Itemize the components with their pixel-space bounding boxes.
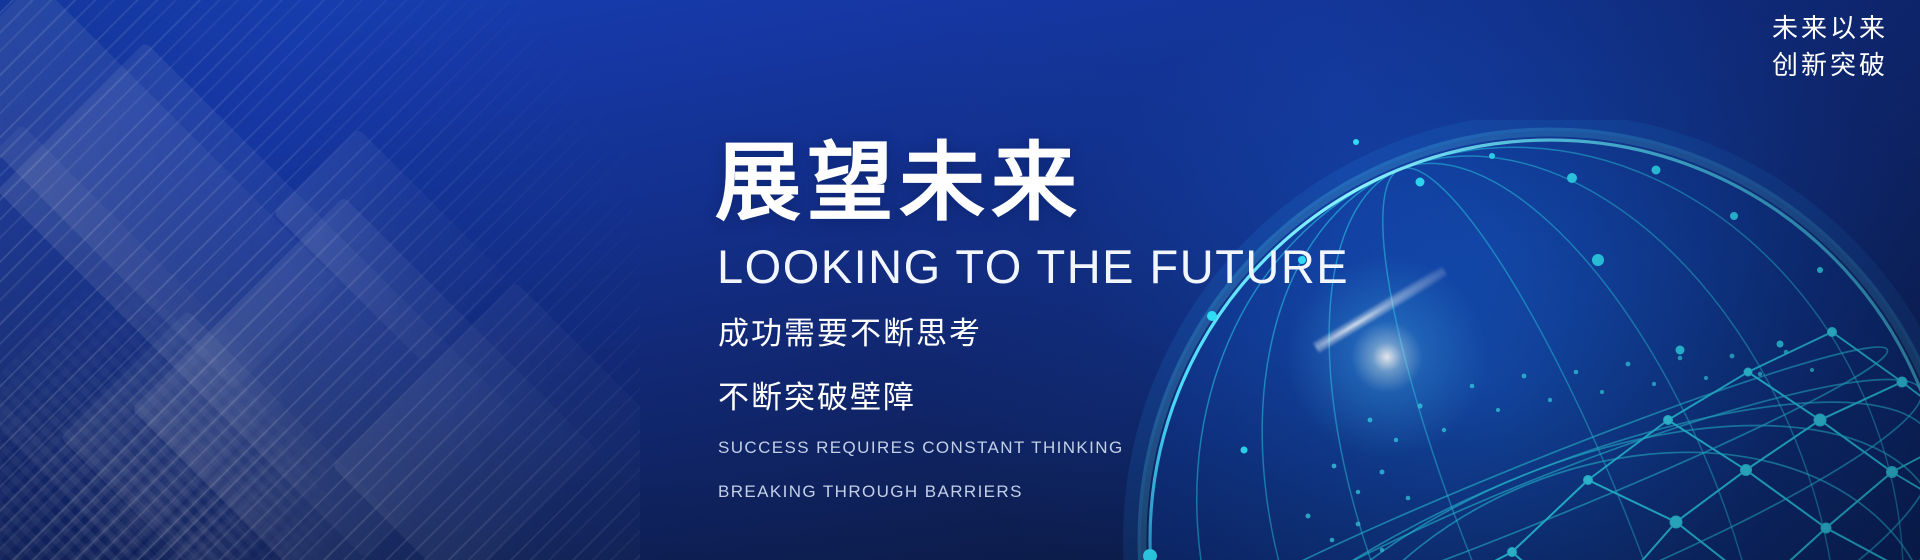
- corner-slogan: 未来以来 创新突破: [1772, 10, 1888, 84]
- tagline-en-line2: BREAKING THROUGH BARRIERS: [718, 478, 1435, 506]
- page-title: 展望未来: [715, 140, 1435, 226]
- tagline-cn-line1: 成功需要不断思考: [718, 313, 1435, 355]
- headline-block: 展望未来 LOOKING TO THE FUTURE 成功需要不断思考 不断突破…: [715, 140, 1435, 505]
- tagline-en-line1: SUCCESS REQUIRES CONSTANT THINKING: [718, 434, 1435, 462]
- tagline-cn-line2: 不断突破壁障: [718, 377, 1435, 419]
- corner-slogan-line2: 创新突破: [1772, 47, 1888, 84]
- corner-slogan-line1: 未来以来: [1772, 10, 1888, 47]
- promo-banner: 展望未来 LOOKING TO THE FUTURE 成功需要不断思考 不断突破…: [0, 0, 1920, 560]
- page-subtitle-en: LOOKING TO THE FUTURE: [717, 242, 1435, 291]
